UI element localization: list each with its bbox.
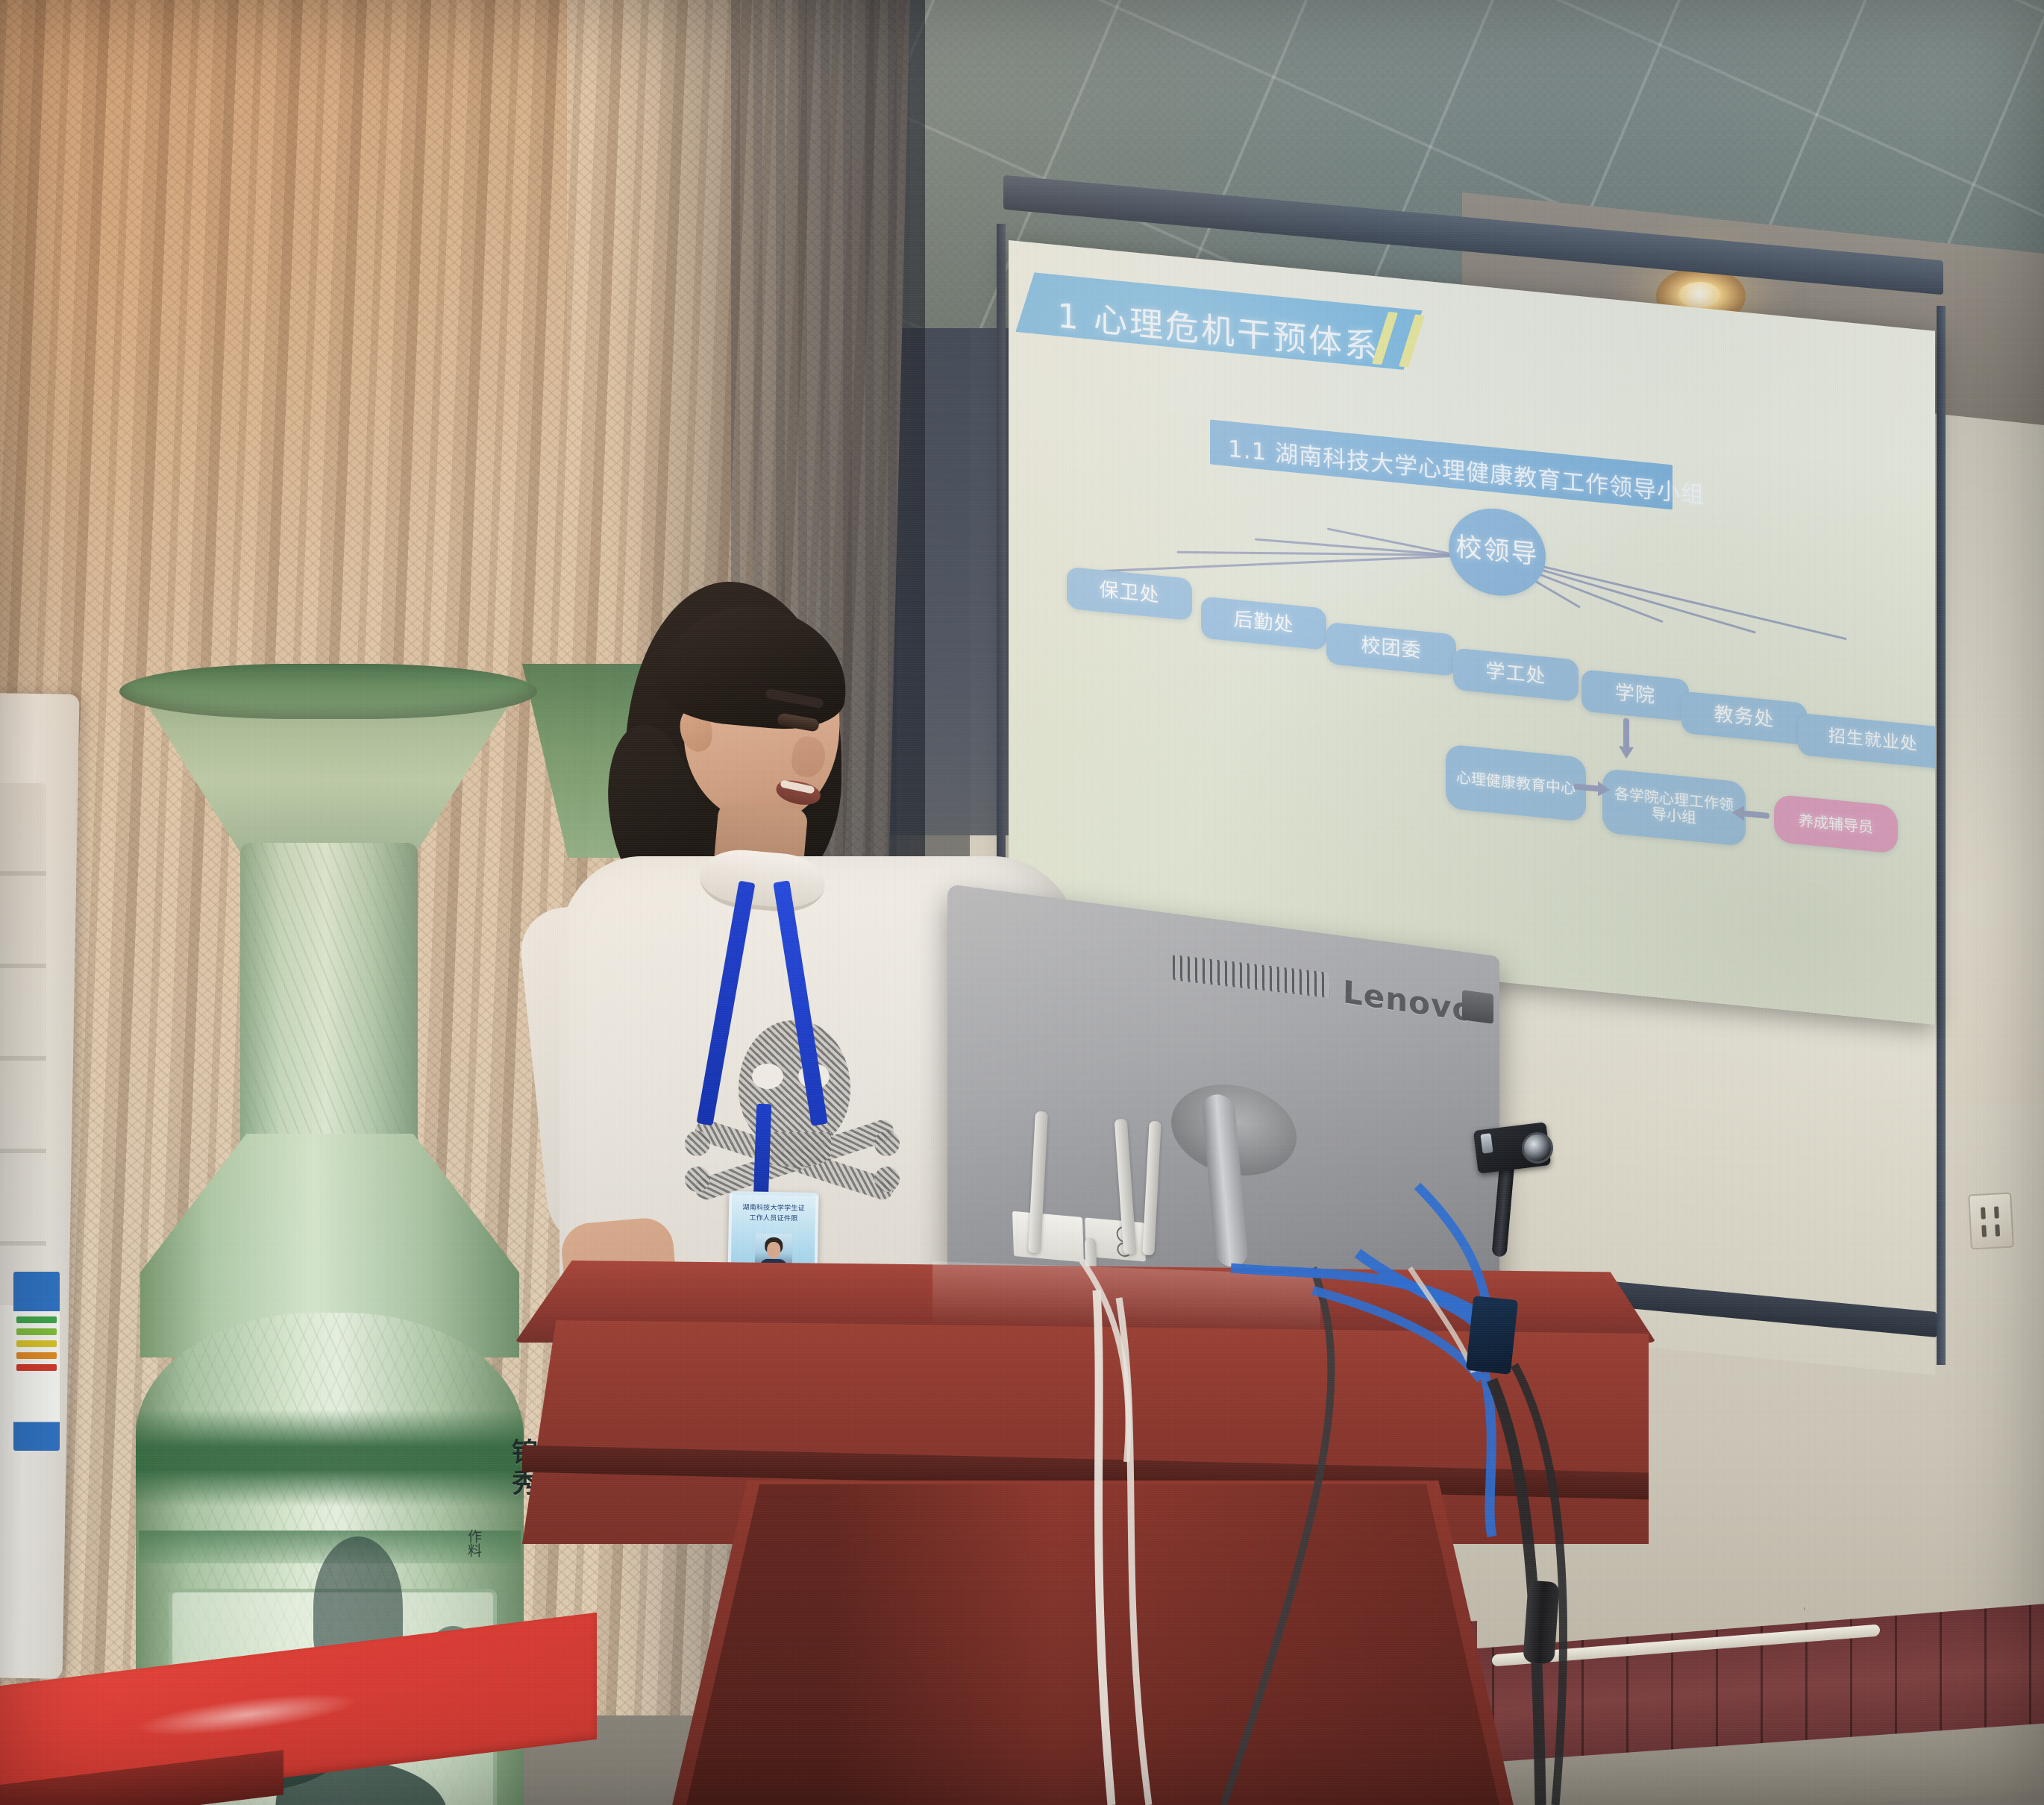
org-node-fudaoyuan: 养成辅导员 [1774, 794, 1898, 854]
org-node-baoweichu: 保卫处 [1067, 567, 1192, 621]
id-badge-line2: 工作人员证件照 [738, 1214, 809, 1225]
porcelain-vase: 锦秀 作料 [97, 656, 559, 1745]
org-node-xinlijiankangzhongxin: 心理健康教育中心 [1446, 744, 1586, 821]
photo-scene: 1 心理危机干预体系 1.1 湖南科技大学心理健康教育工作领导小组 校领导 [0, 0, 2044, 1805]
presentation-slide: 1 心理危机干预体系 1.1 湖南科技大学心理健康教育工作领导小组 校领导 [1009, 240, 1935, 1025]
org-node-xueyuan: 学院 [1581, 669, 1689, 721]
id-badge-line1: 湖南科技大学学生证 [738, 1203, 809, 1214]
org-node-xuegongchu: 学工处 [1453, 647, 1579, 701]
org-node-label: 保卫处 [1099, 580, 1159, 607]
org-node-label: 心理健康教育中心 [1456, 769, 1576, 797]
vase-rim [119, 664, 537, 719]
org-node-zhaoshengjiuyechu: 招生就业处 [1798, 713, 1935, 770]
org-node-label: 学院 [1615, 682, 1655, 708]
monitor-spec-badge [1462, 990, 1493, 1024]
air-conditioner-vents [0, 783, 46, 1305]
slide-title-text: 1 心理危机干预体系 [1057, 288, 1380, 368]
cable-connector-block [1466, 1296, 1518, 1375]
id-badge-title: 湖南科技大学学生证 工作人员证件照 [738, 1203, 809, 1225]
vase-calligraphy-small: 作料 [464, 1529, 484, 1557]
org-node-label: 校团委 [1361, 635, 1421, 663]
org-node-center: 校领导 [1449, 504, 1546, 600]
org-node-label: 养成辅导员 [1799, 812, 1873, 836]
org-node-label: 招生就业处 [1828, 727, 1918, 756]
downlight-glow [1678, 282, 1720, 307]
slide-subtitle-text: 1.1 湖南科技大学心理健康教育工作领导小组 [1228, 430, 1705, 510]
webcam-indicator-icon [1480, 1133, 1493, 1154]
monitor-sticker [1012, 1211, 1084, 1262]
screen-frame-right [1937, 306, 1946, 1365]
projection-screen: 1 心理危机干预体系 1.1 湖南科技大学心理健康教育工作领导小组 校领导 [1009, 240, 1935, 1025]
org-node-label: 后勤处 [1233, 609, 1294, 637]
screen-glare [1009, 240, 1935, 1025]
podium-shading [686, 1484, 1499, 1805]
org-node-houqinchu: 后勤处 [1201, 596, 1326, 650]
slide-title-banner: 1 心理危机干预体系 [1015, 272, 1422, 370]
slide-subtitle-banner: 1.1 湖南科技大学心理健康教育工作领导小组 [1210, 419, 1672, 509]
energy-label-sticker [13, 1272, 60, 1451]
org-edge-8 [1501, 556, 1847, 641]
org-node-xiaotuanwei: 校团委 [1326, 622, 1456, 677]
org-node-center-label: 校领导 [1455, 533, 1538, 571]
org-node-label: 学工处 [1485, 661, 1546, 688]
org-node-jiaowuchu: 教务处 [1681, 691, 1807, 744]
org-arrow-left [1743, 810, 1769, 819]
wall-outlet-icon [1968, 1193, 2014, 1250]
cable-ferrite-bead [1523, 1580, 1560, 1665]
vase-neck-texture [240, 843, 418, 1156]
org-edge-1 [1103, 554, 1473, 572]
org-node-label: 教务处 [1714, 704, 1774, 732]
org-node-xueyuanxiaozu: 各学院心理工作领导小组 [1602, 768, 1746, 847]
org-arrow-down [1623, 718, 1629, 749]
org-node-label: 各学院心理工作领导小组 [1610, 785, 1738, 831]
